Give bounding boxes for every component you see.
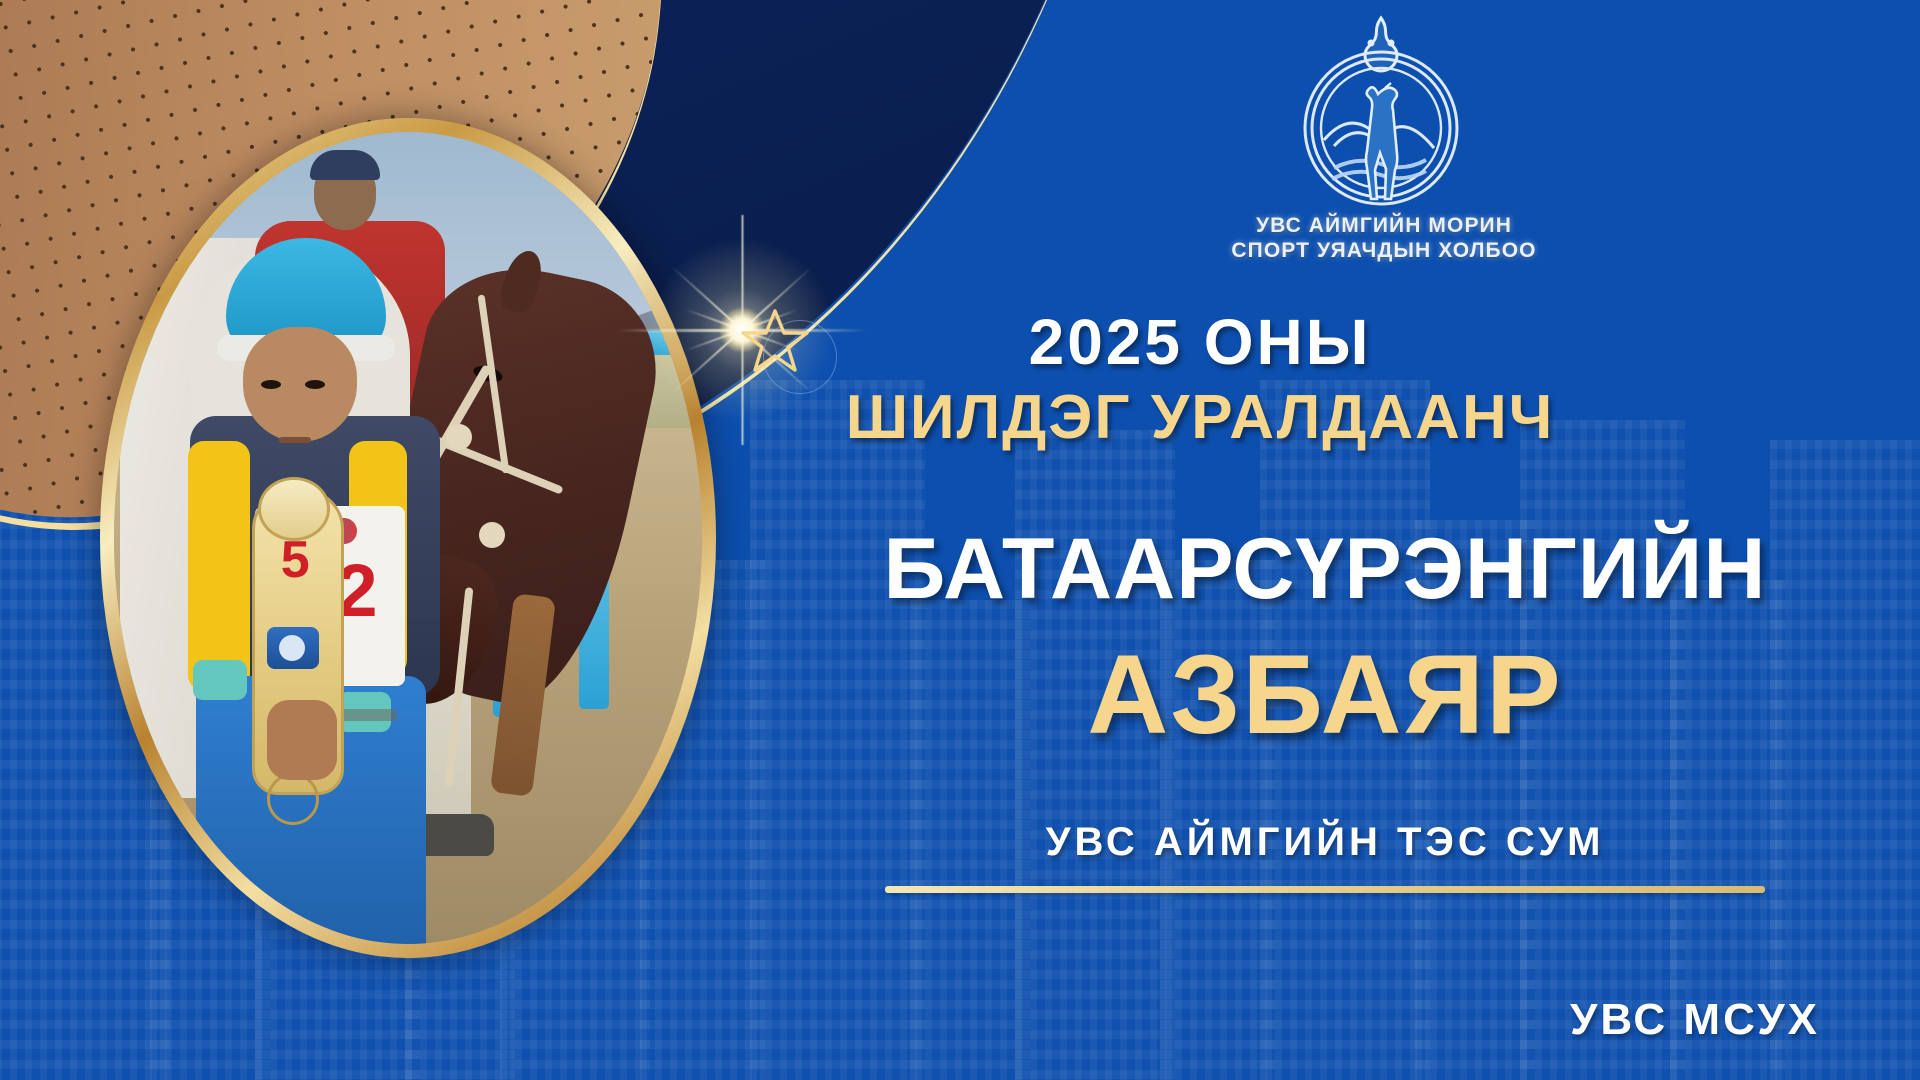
photo-jockey-cuff: [193, 660, 247, 700]
honoree-location: УВС АЙМГИЙН ТЭС СУМ: [760, 820, 1890, 865]
horse-emblem-logo: [1272, 10, 1490, 210]
photo-medal-badge-inner: [279, 635, 305, 661]
photo-rein-knot: [479, 522, 505, 548]
award-title: ШИЛДЭГ УРАЛДААНЧ: [780, 382, 1620, 453]
organization-line-1: УВС АЙМГИЙН МОРИН: [1140, 214, 1628, 239]
organization-line-2: СПОРТ УЯАЧДЫН ХОЛБОО: [1140, 239, 1628, 264]
photo-jockey-vest: [188, 441, 250, 691]
photo-jockey-eye: [305, 380, 325, 389]
organization-name: УВС АЙМГИЙН МОРИН СПОРТ УЯАЧДЫН ХОЛБОО: [1140, 214, 1628, 264]
footer-label: УВС МСУХ: [1160, 995, 1820, 1045]
photo-trainer-cap: [310, 150, 380, 180]
jockey-with-horse-photo: 72 5 C: [114, 132, 702, 944]
gold-divider: [885, 886, 1765, 893]
honoree-surname: БАТААРСҮРЭНГИЙН: [760, 520, 1890, 619]
award-year: 2025 ОНЫ: [780, 305, 1620, 379]
photo-jockey-eye: [261, 380, 281, 389]
award-poster: 72 5 C: [0, 0, 1920, 1080]
photo-jockey-hand: [267, 700, 337, 780]
photo-medal-number: 5: [252, 534, 338, 586]
photo-medal-ornament: [267, 773, 319, 825]
photo-frame: 72 5 C: [100, 118, 716, 958]
photo-jockey-mouth: [279, 437, 311, 443]
honoree-given-name: АЗБАЯР: [760, 630, 1890, 759]
